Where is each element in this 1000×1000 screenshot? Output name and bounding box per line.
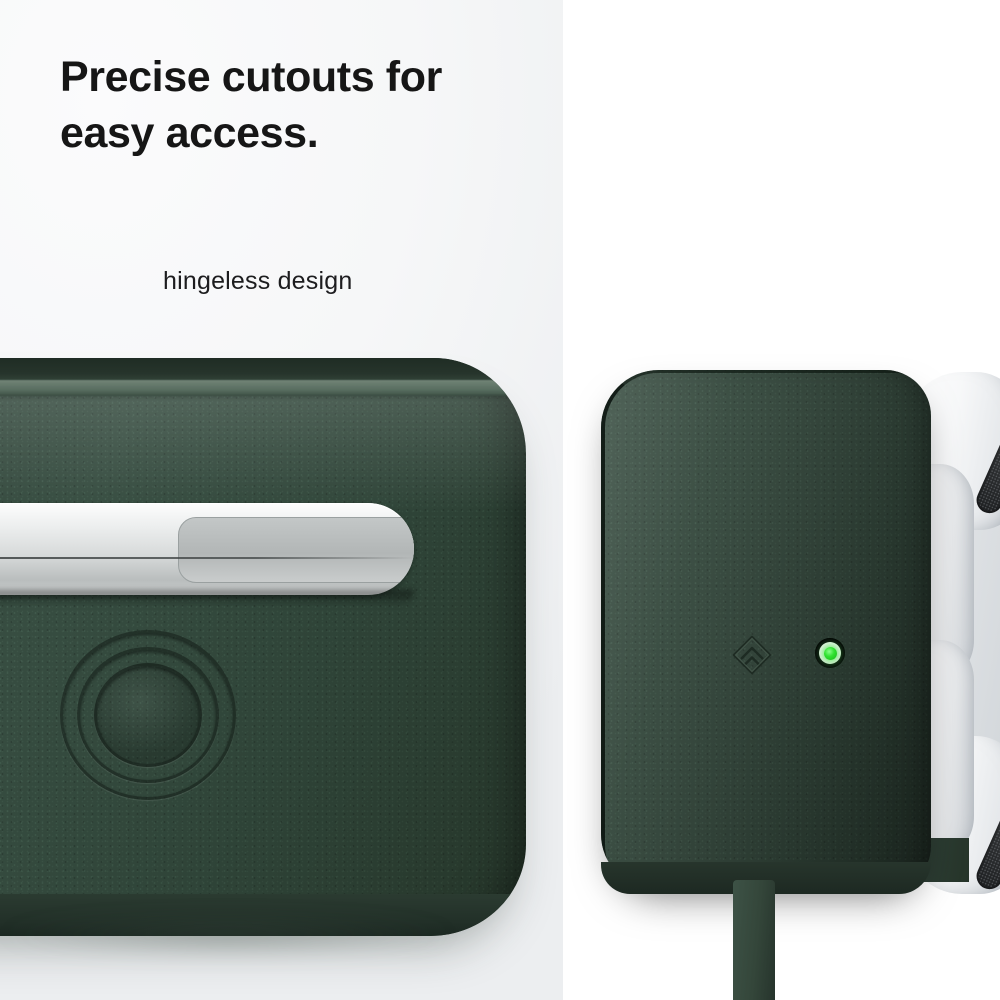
pairing-ring-inner	[94, 663, 202, 767]
case-lid-highlight	[0, 380, 520, 396]
hinge-inset-panel	[178, 517, 414, 583]
pairing-button	[60, 630, 230, 794]
case-drop-shadow	[0, 912, 563, 970]
page-title: Precise cutouts for easy access.	[60, 50, 530, 162]
panel-hingeless-design: Precise cutouts for easy access. hingele…	[0, 0, 563, 1000]
case-hinge-strap	[733, 880, 775, 1000]
case-lid-edge-shadow	[601, 370, 931, 890]
caption-hingeless-design: hingeless design	[163, 267, 352, 296]
product-feature-image: Precise cutouts for easy access. hingele…	[0, 0, 1000, 1000]
airpods-case-closed	[0, 358, 526, 936]
metal-hinge-strip	[0, 503, 414, 595]
airpods-case-open-lid	[601, 370, 931, 890]
hinge-drop-shadow	[0, 590, 414, 606]
hinge-seam-line	[0, 557, 414, 559]
